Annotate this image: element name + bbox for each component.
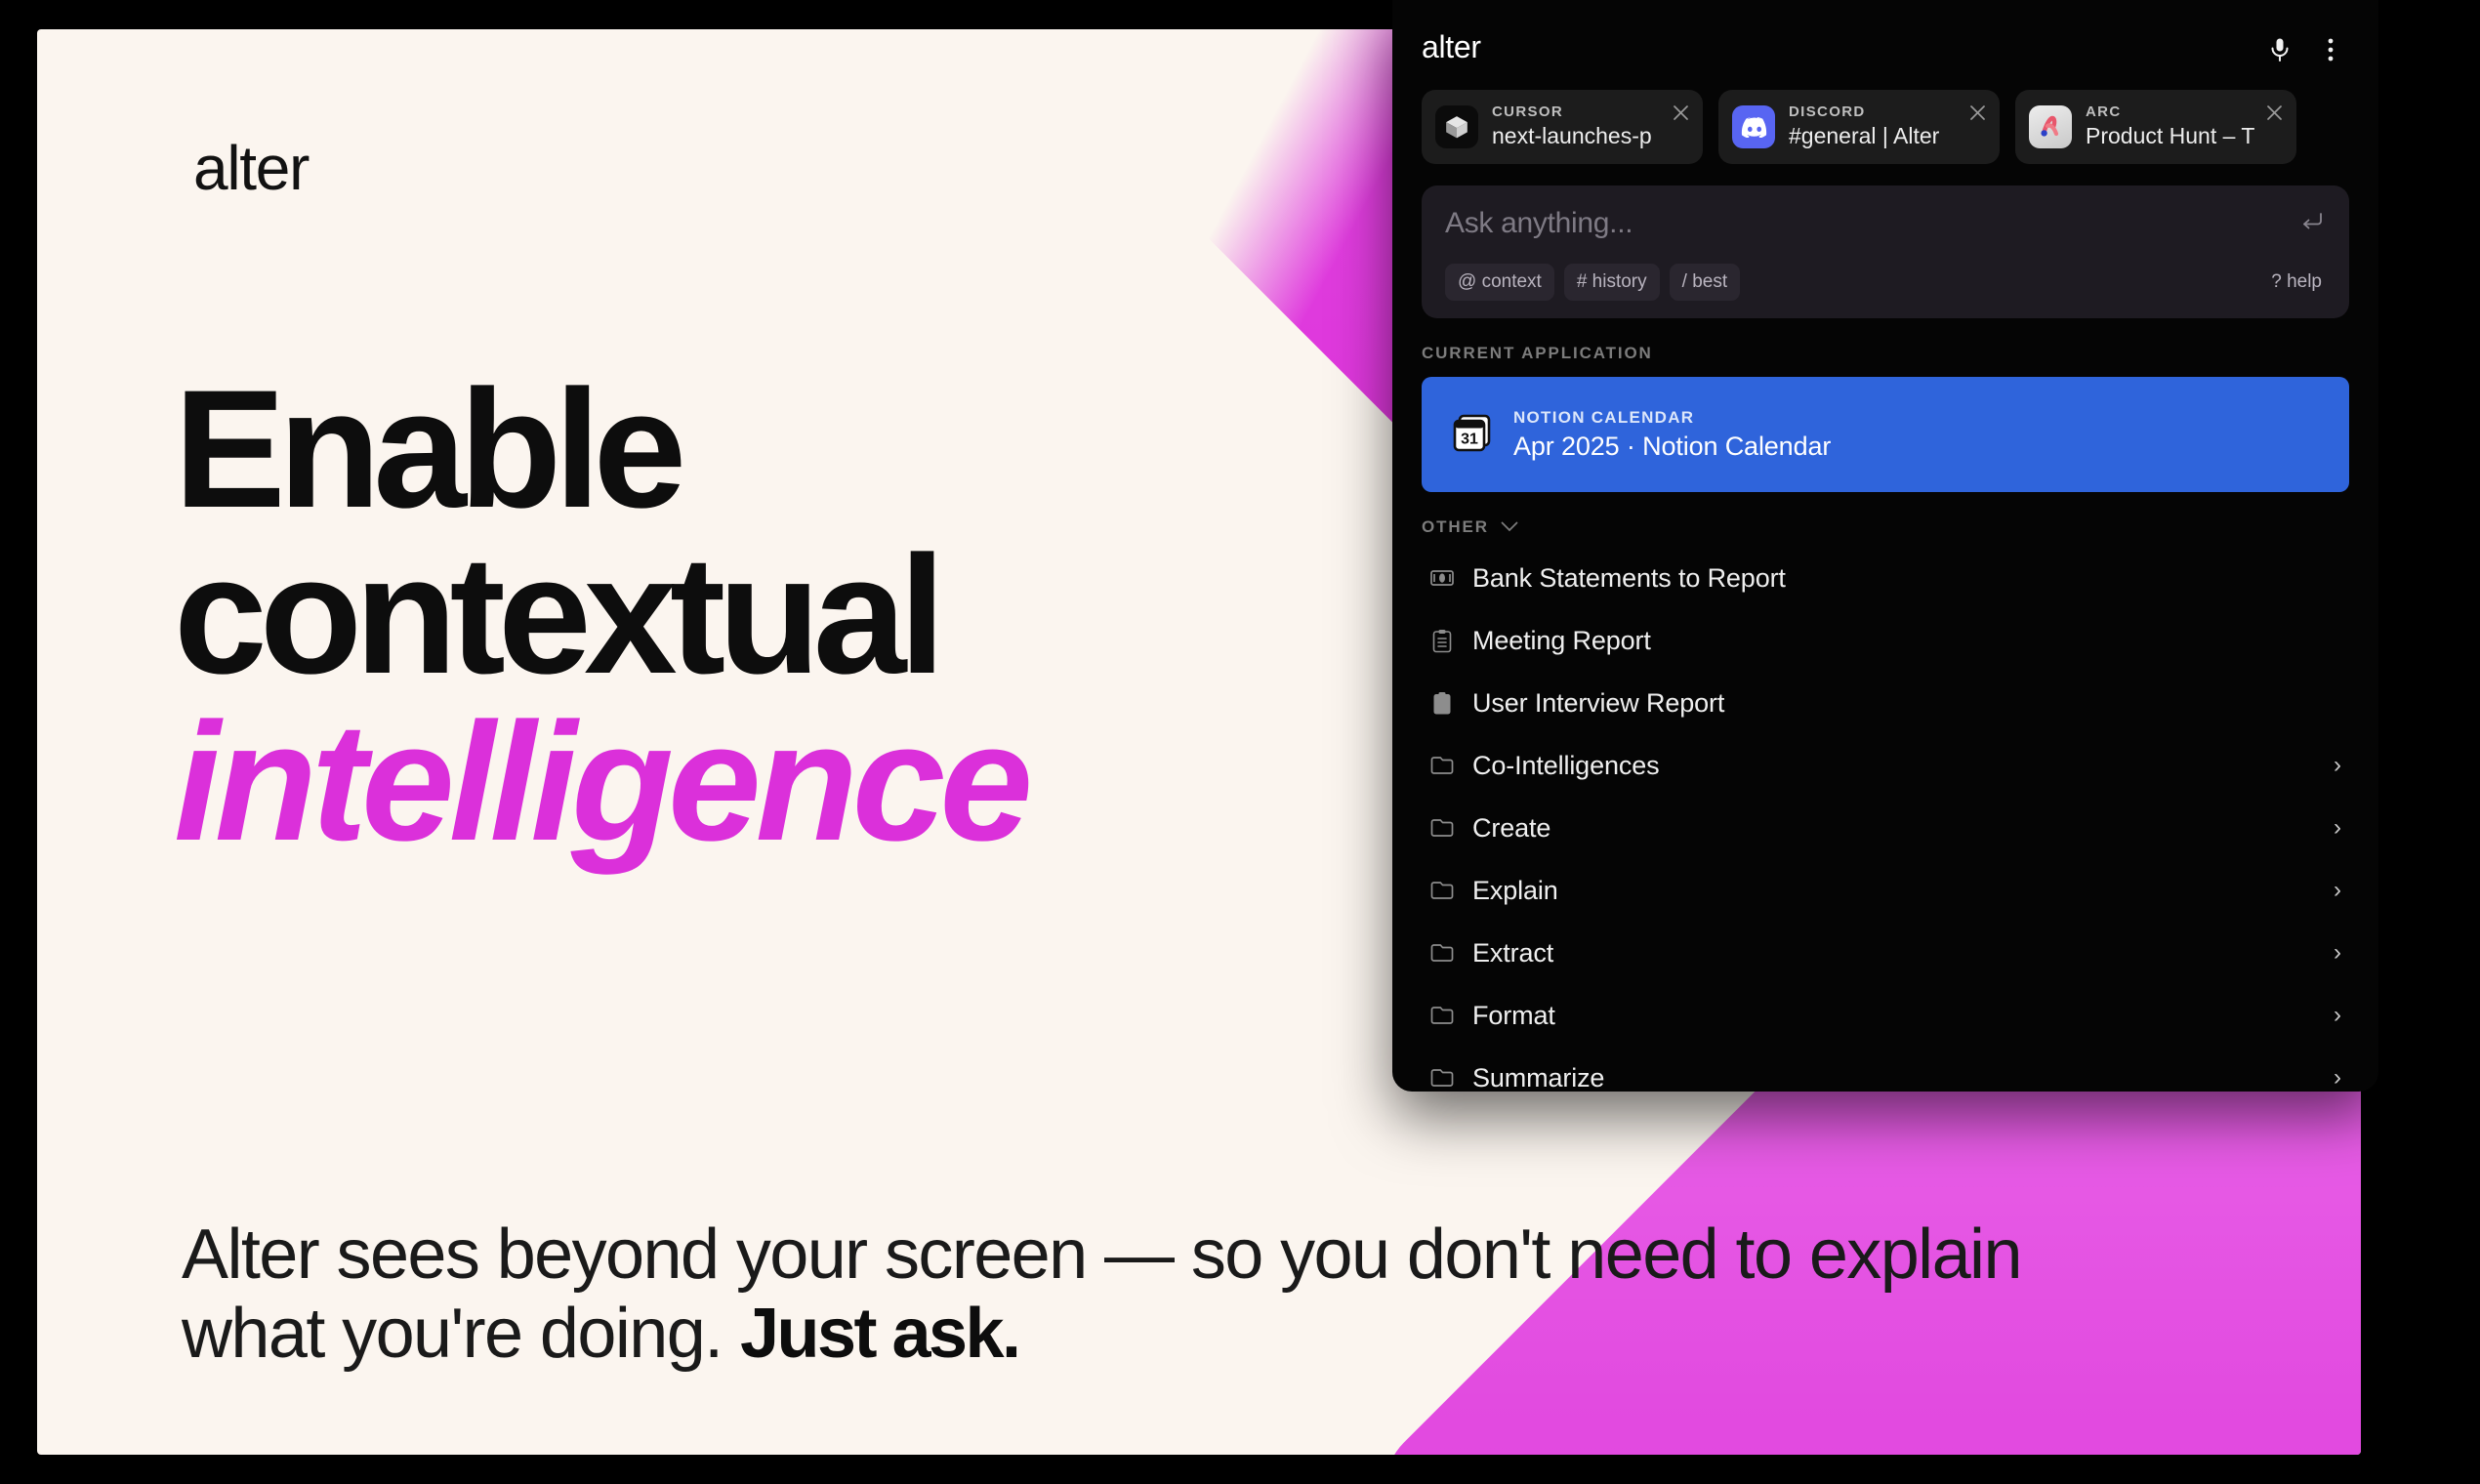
list-item[interactable]: Format › (1416, 984, 2355, 1047)
folder-icon (1429, 878, 1455, 903)
chevron-right-icon[interactable]: › (2334, 1066, 2341, 1090)
current-application-app-name: NOTION CALENDAR (1513, 405, 1831, 431)
list-item-label: Extract (1472, 938, 1553, 969)
close-icon[interactable] (1670, 102, 1691, 123)
headline-accent: intelligence (174, 699, 1541, 865)
list-item-label: Create (1472, 813, 1550, 844)
headline-line-2: contextual (174, 521, 938, 709)
calendar-31-icon: 31 (1447, 410, 1496, 459)
panel-header: alter (1392, 0, 2378, 84)
list-item[interactable]: Extract › (1416, 922, 2355, 984)
other-items-list: Bank Statements to Report Meeting Report (1392, 547, 2378, 1092)
context-tab-arc[interactable]: ARC Product Hunt – T (2015, 90, 2296, 164)
list-item-label: Co-Intelligences (1472, 751, 1659, 781)
context-tab-text: CURSOR next-launches-p (1492, 103, 1652, 152)
context-tab-title: next-launches-p (1492, 121, 1652, 151)
page-title: Enable contextual intelligence (174, 366, 1541, 865)
microphone-icon[interactable] (2267, 35, 2293, 64)
list-item[interactable]: Explain › (1416, 859, 2355, 922)
discord-icon (1732, 105, 1775, 148)
svg-text:31: 31 (1461, 432, 1478, 448)
ask-chips: @ context # history / best ? help (1445, 264, 2326, 301)
alter-logo: alter (193, 132, 309, 204)
banknote-icon (1429, 565, 1455, 591)
context-tab-cursor[interactable]: CURSOR next-launches-p (1422, 90, 1703, 164)
chevron-right-icon[interactable]: › (2334, 941, 2341, 965)
arc-browser-icon (2029, 105, 2072, 148)
list-item[interactable]: Co-Intelligences › (1416, 734, 2355, 797)
context-tab-app-name: CURSOR (1492, 103, 1652, 122)
cursor-cube-icon (1435, 105, 1478, 148)
context-tab-text: DISCORD #general | Alter (1789, 103, 1939, 152)
panel-brand-logo: alter (1422, 29, 1481, 65)
subtitle-bold: Just ask. (740, 1295, 1019, 1373)
list-item-label: Format (1472, 1001, 1555, 1031)
list-item[interactable]: Create › (1416, 797, 2355, 859)
chip-context[interactable]: @ context (1445, 264, 1554, 301)
other-label-text: OTHER (1422, 517, 1489, 537)
chevron-right-icon[interactable]: › (2334, 879, 2341, 902)
folder-icon (1429, 1065, 1455, 1091)
list-item[interactable]: Meeting Report (1416, 609, 2355, 672)
context-tab-title: Product Hunt – T (2086, 121, 2254, 151)
close-icon[interactable] (2263, 102, 2285, 123)
close-icon[interactable] (1966, 102, 1988, 123)
list-item[interactable]: Summarize › (1416, 1047, 2355, 1092)
current-application-title: Apr 2025 · Notion Calendar (1513, 430, 1831, 464)
chip-history[interactable]: # history (1564, 264, 1660, 301)
list-item-label: User Interview Report (1472, 688, 1724, 719)
subtitle-light: Alter sees beyond your screen — so you d… (182, 1216, 2021, 1373)
context-tab-discord[interactable]: DISCORD #general | Alter (1718, 90, 2000, 164)
alter-assistant-panel: alter (1392, 0, 2378, 1092)
chip-help[interactable]: ? help (2258, 264, 2326, 301)
context-tab-app-name: DISCORD (1789, 103, 1939, 122)
folder-icon (1429, 815, 1455, 841)
chevron-right-icon[interactable]: › (2334, 754, 2341, 777)
other-section-label[interactable]: OTHER (1422, 517, 2349, 537)
list-item-label: Explain (1472, 876, 1558, 906)
list-item[interactable]: User Interview Report (1416, 672, 2355, 734)
ask-anything-box[interactable]: Ask anything... @ context # history / be… (1422, 185, 2349, 318)
ask-input[interactable]: Ask anything... (1445, 207, 2326, 240)
current-application-text: NOTION CALENDAR Apr 2025 · Notion Calend… (1513, 405, 1831, 465)
clipboard-list-icon (1429, 628, 1455, 653)
context-tabs: CURSOR next-launches-p DISCORD (1392, 84, 2378, 164)
list-item[interactable]: Bank Statements to Report (1416, 547, 2355, 609)
folder-icon (1429, 1003, 1455, 1028)
hero-subtitle: Alter sees beyond your screen — so you d… (182, 1216, 2144, 1373)
folder-icon (1429, 940, 1455, 966)
more-vertical-icon[interactable] (2318, 35, 2343, 64)
enter-return-icon[interactable] (2300, 209, 2324, 239)
panel-header-actions (2267, 29, 2343, 64)
list-item-label: Bank Statements to Report (1472, 563, 1786, 594)
context-tab-text: ARC Product Hunt – T (2086, 103, 2254, 152)
headline-line-1: Enable (174, 355, 680, 543)
folder-icon (1429, 753, 1455, 778)
list-item-label: Meeting Report (1472, 626, 1651, 656)
chevron-right-icon[interactable]: › (2334, 1004, 2341, 1027)
context-tab-title: #general | Alter (1789, 121, 1939, 151)
screenshot-root: alter Enable contextual intelligence Alt… (0, 0, 2480, 1484)
list-item-label: Summarize (1472, 1063, 1604, 1092)
current-application-row[interactable]: 31 NOTION CALENDAR Apr 2025 · Notion Cal… (1422, 377, 2349, 492)
clipboard-solid-icon (1429, 690, 1455, 716)
chip-best[interactable]: / best (1670, 264, 1740, 301)
current-application-label: CURRENT APPLICATION (1422, 344, 2349, 363)
context-tab-app-name: ARC (2086, 103, 2254, 122)
chevron-down-icon[interactable] (1501, 517, 1518, 537)
chevron-right-icon[interactable]: › (2334, 816, 2341, 840)
